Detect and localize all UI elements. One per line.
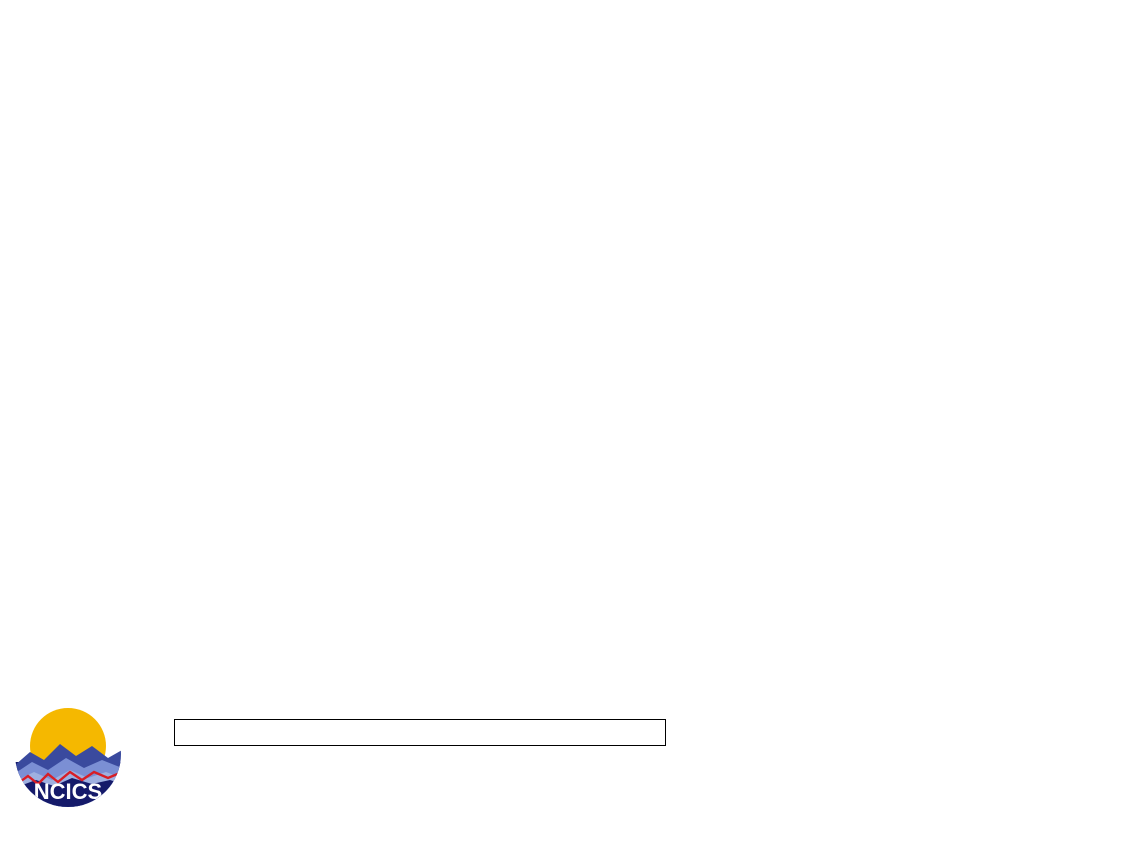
colorbar: [174, 719, 666, 746]
logo-text: NCICS: [34, 779, 102, 804]
ncics-logo: NCICS: [14, 700, 122, 808]
